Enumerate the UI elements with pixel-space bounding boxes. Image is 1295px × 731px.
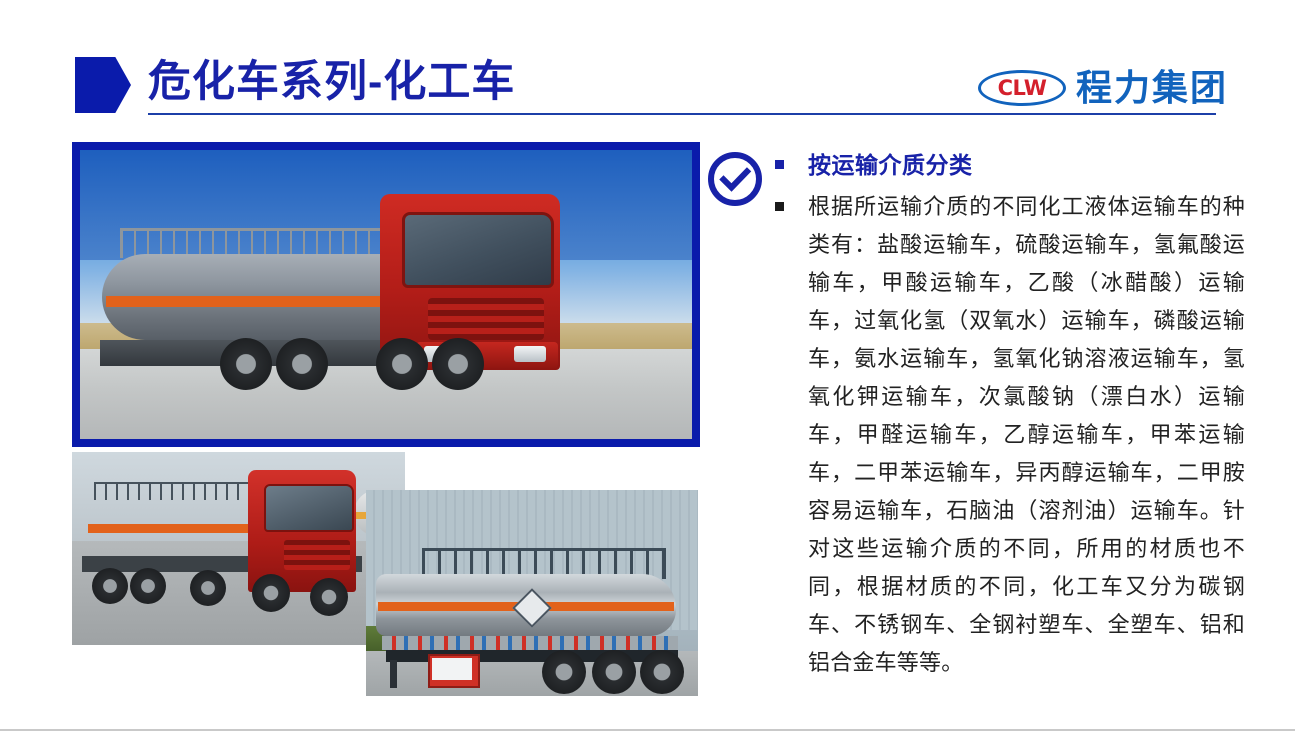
- square-bullet-blue-icon: [775, 160, 784, 169]
- logo-mark-text: CLW: [978, 70, 1066, 106]
- list-item-heading: 按运输介质分类: [775, 148, 1245, 182]
- wheel: [190, 570, 226, 606]
- wheel: [276, 338, 328, 390]
- cab-grille: [284, 540, 350, 570]
- content-bullet-list: 按运输介质分类 根据所运输介质的不同化工液体运输车的种类有：盐酸运输车，硫酸运输…: [775, 148, 1245, 682]
- reflective-side-marking: [382, 636, 678, 650]
- wheel: [310, 578, 348, 616]
- wheel: [220, 338, 272, 390]
- section-body-text: 根据所运输介质的不同化工液体运输车的种类有：盐酸运输车，硫酸运输车，氢氟酸运输车…: [808, 188, 1245, 682]
- cab-windshield: [402, 212, 554, 288]
- wheel: [130, 568, 166, 604]
- secondary-product-photo: [72, 452, 405, 645]
- wheel: [376, 338, 428, 390]
- tank-orange-stripe: [88, 524, 254, 533]
- landing-gear-leg: [390, 660, 397, 688]
- wheel: [432, 338, 484, 390]
- wheel: [542, 650, 586, 694]
- wheel: [252, 574, 290, 612]
- logo-company-name: 程力集团: [1076, 66, 1228, 110]
- main-product-photo: [72, 142, 700, 447]
- trailer-product-photo: [366, 490, 698, 696]
- slide-canvas: 危化车系列-化工车 CLW 程力集团: [0, 0, 1295, 731]
- wheel: [640, 650, 684, 694]
- slide-header: 危化车系列-化工车 CLW 程力集团: [0, 0, 1295, 130]
- brand-logo: CLW 程力集团: [978, 66, 1218, 110]
- section-heading: 按运输介质分类: [808, 148, 973, 182]
- square-bullet-dark-icon: [775, 202, 784, 211]
- info-placard-face: [432, 658, 472, 680]
- check-circle-icon: [706, 150, 764, 208]
- list-item-body: 根据所运输介质的不同化工液体运输车的种类有：盐酸运输车，硫酸运输车，氢氟酸运输车…: [775, 188, 1245, 682]
- wheel: [592, 650, 636, 694]
- wheel: [92, 568, 128, 604]
- title-underline: [148, 113, 1216, 115]
- pennant-arrow-icon: [75, 57, 131, 113]
- cab-windshield: [264, 484, 354, 532]
- headlamp-right: [514, 346, 546, 362]
- cab-grille: [428, 298, 544, 340]
- page-title: 危化车系列-化工车: [148, 53, 515, 111]
